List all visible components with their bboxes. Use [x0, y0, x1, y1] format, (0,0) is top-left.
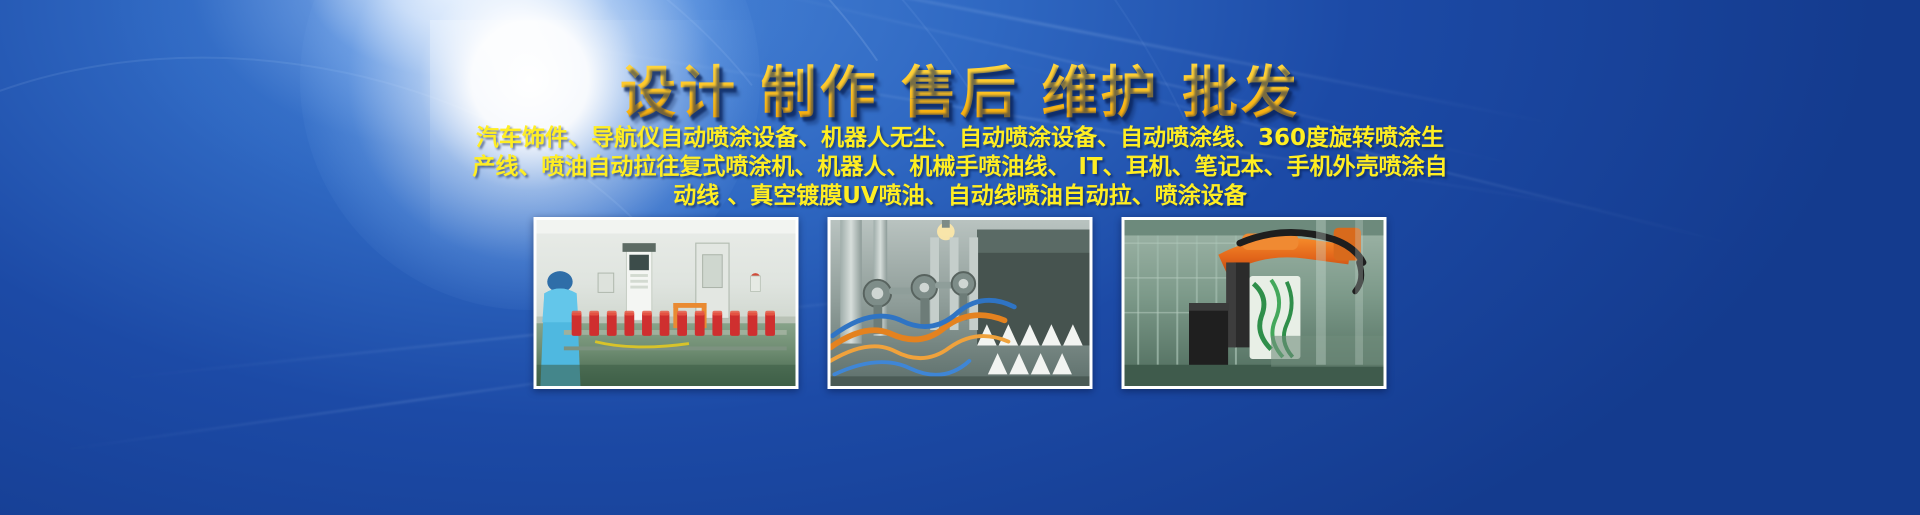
banner-subtitle: 汽车饰件、导航仪自动喷涂设备、机器人无尘、自动喷涂设备、自动喷涂线、360度旋转… [440, 124, 1480, 211]
promo-banner: 设计 制作 售后 维护 批发 汽车饰件、导航仪自动喷涂设备、机器人无尘、自动喷涂… [0, 0, 1920, 515]
photo-gallery [534, 217, 1387, 389]
subtitle-line-3: 动线 、真空镀膜UV喷油、自动线喷油自动拉、喷涂设备 [440, 182, 1480, 211]
photo-spray-gun-equipment[interactable] [828, 217, 1093, 389]
photo-robot-arm[interactable] [1122, 217, 1387, 389]
banner-headline: 设计 制作 售后 维护 批发 [0, 48, 1920, 129]
subtitle-line-1: 汽车饰件、导航仪自动喷涂设备、机器人无尘、自动喷涂设备、自动喷涂线、360度旋转… [440, 124, 1480, 153]
photo-cleanroom-line[interactable] [534, 217, 799, 389]
subtitle-line-2: 产线、喷油自动拉往复式喷涂机、机器人、机械手喷油线、 IT、耳机、笔记本、手机外… [440, 153, 1480, 182]
